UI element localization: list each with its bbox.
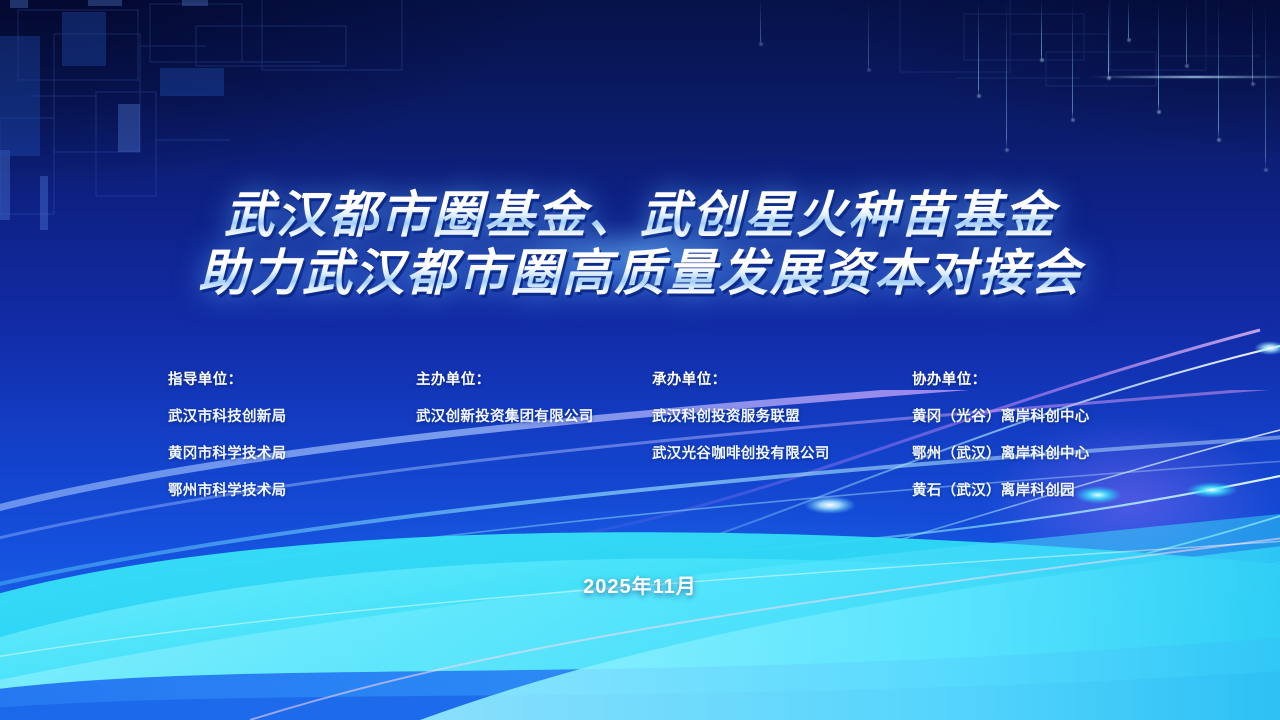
organizer-item: 武汉创新投资集团有限公司 bbox=[416, 405, 652, 426]
organizer-columns: 指导单位： 武汉市科技创新局 黄冈市科学技术局 鄂州市科学技术局 主办单位： 武… bbox=[168, 368, 1128, 500]
organizer-item: 武汉光谷咖啡创投有限公司 bbox=[652, 442, 912, 463]
organizer-column-guidance: 指导单位： 武汉市科技创新局 黄冈市科学技术局 鄂州市科学技术局 bbox=[168, 368, 416, 500]
organizer-item: 黄冈（光谷）离岸科创中心 bbox=[912, 405, 1128, 426]
organizer-item: 黄石（武汉）离岸科创园 bbox=[912, 479, 1128, 500]
organizer-column-label: 协办单位： bbox=[912, 368, 1128, 389]
event-title: 武汉都市圈基金、武创星火种苗基金 助力武汉都市圈高质量发展资本对接会 bbox=[0, 186, 1280, 302]
organizer-column-coorganizer: 协办单位： 黄冈（光谷）离岸科创中心 鄂州（武汉）离岸科创中心 黄石（武汉）离岸… bbox=[912, 368, 1128, 500]
organizer-item: 黄冈市科学技术局 bbox=[168, 442, 416, 463]
banner-content: 武汉都市圈基金、武创星火种苗基金 助力武汉都市圈高质量发展资本对接会 指导单位：… bbox=[0, 0, 1280, 720]
organizer-column-label: 承办单位： bbox=[652, 368, 912, 389]
organizer-item: 武汉市科技创新局 bbox=[168, 405, 416, 426]
organizer-column-organizer: 承办单位： 武汉科创投资服务联盟 武汉光谷咖啡创投有限公司 bbox=[652, 368, 912, 500]
organizer-column-host: 主办单位： 武汉创新投资集团有限公司 bbox=[416, 368, 652, 500]
organizer-item: 武汉科创投资服务联盟 bbox=[652, 405, 912, 426]
organizer-column-label: 主办单位： bbox=[416, 368, 652, 389]
organizer-column-label: 指导单位： bbox=[168, 368, 416, 389]
event-banner: 武汉都市圈基金、武创星火种苗基金 助力武汉都市圈高质量发展资本对接会 指导单位：… bbox=[0, 0, 1280, 720]
event-title-line-2: 助力武汉都市圈高质量发展资本对接会 bbox=[0, 244, 1280, 302]
event-date: 2025年11月 bbox=[0, 570, 1280, 599]
organizer-item: 鄂州（武汉）离岸科创中心 bbox=[912, 442, 1128, 463]
organizer-item: 鄂州市科学技术局 bbox=[168, 479, 416, 500]
event-title-line-1: 武汉都市圈基金、武创星火种苗基金 bbox=[0, 186, 1280, 244]
